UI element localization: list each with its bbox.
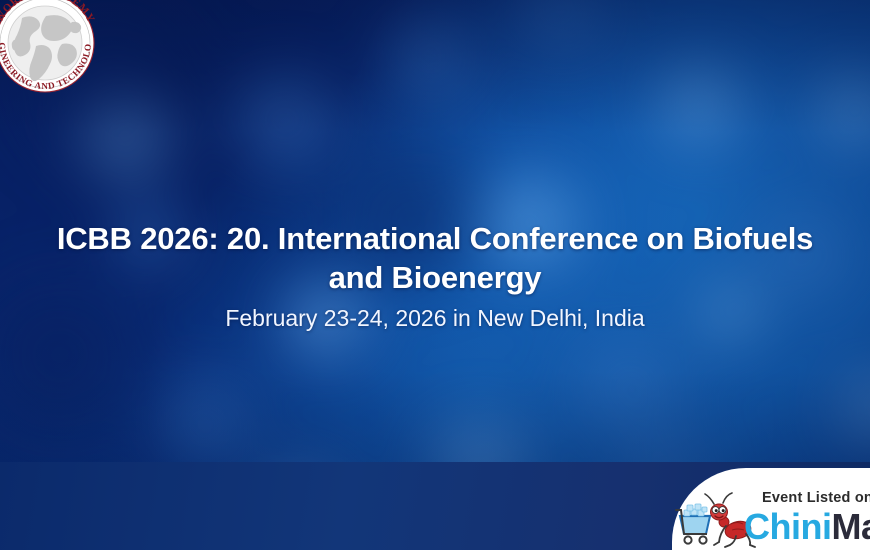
conference-date-location: February 23-24, 2026 in New Delhi, India xyxy=(0,303,870,333)
sugar-cart xyxy=(676,504,710,544)
conference-banner: WORLD ACADEMY ENGINEERING AND TECHNOLOGY… xyxy=(0,0,870,550)
partner-band: Event Listed on ChiniMand xyxy=(0,462,870,550)
conference-title: ICBB 2026: 20. International Conference … xyxy=(0,219,870,297)
waset-logo: WORLD ACADEMY ENGINEERING AND TECHNOLOGY xyxy=(0,0,106,104)
partner-panel: Event Listed on ChiniMand xyxy=(672,468,870,550)
brand-mandi: Mand xyxy=(831,506,870,547)
event-listed-caption: Event Listed on xyxy=(762,490,870,506)
globe-icon xyxy=(8,6,82,81)
chinimandi-wordmark: ChiniMand xyxy=(744,509,870,545)
brand-chini: Chini xyxy=(744,506,831,547)
